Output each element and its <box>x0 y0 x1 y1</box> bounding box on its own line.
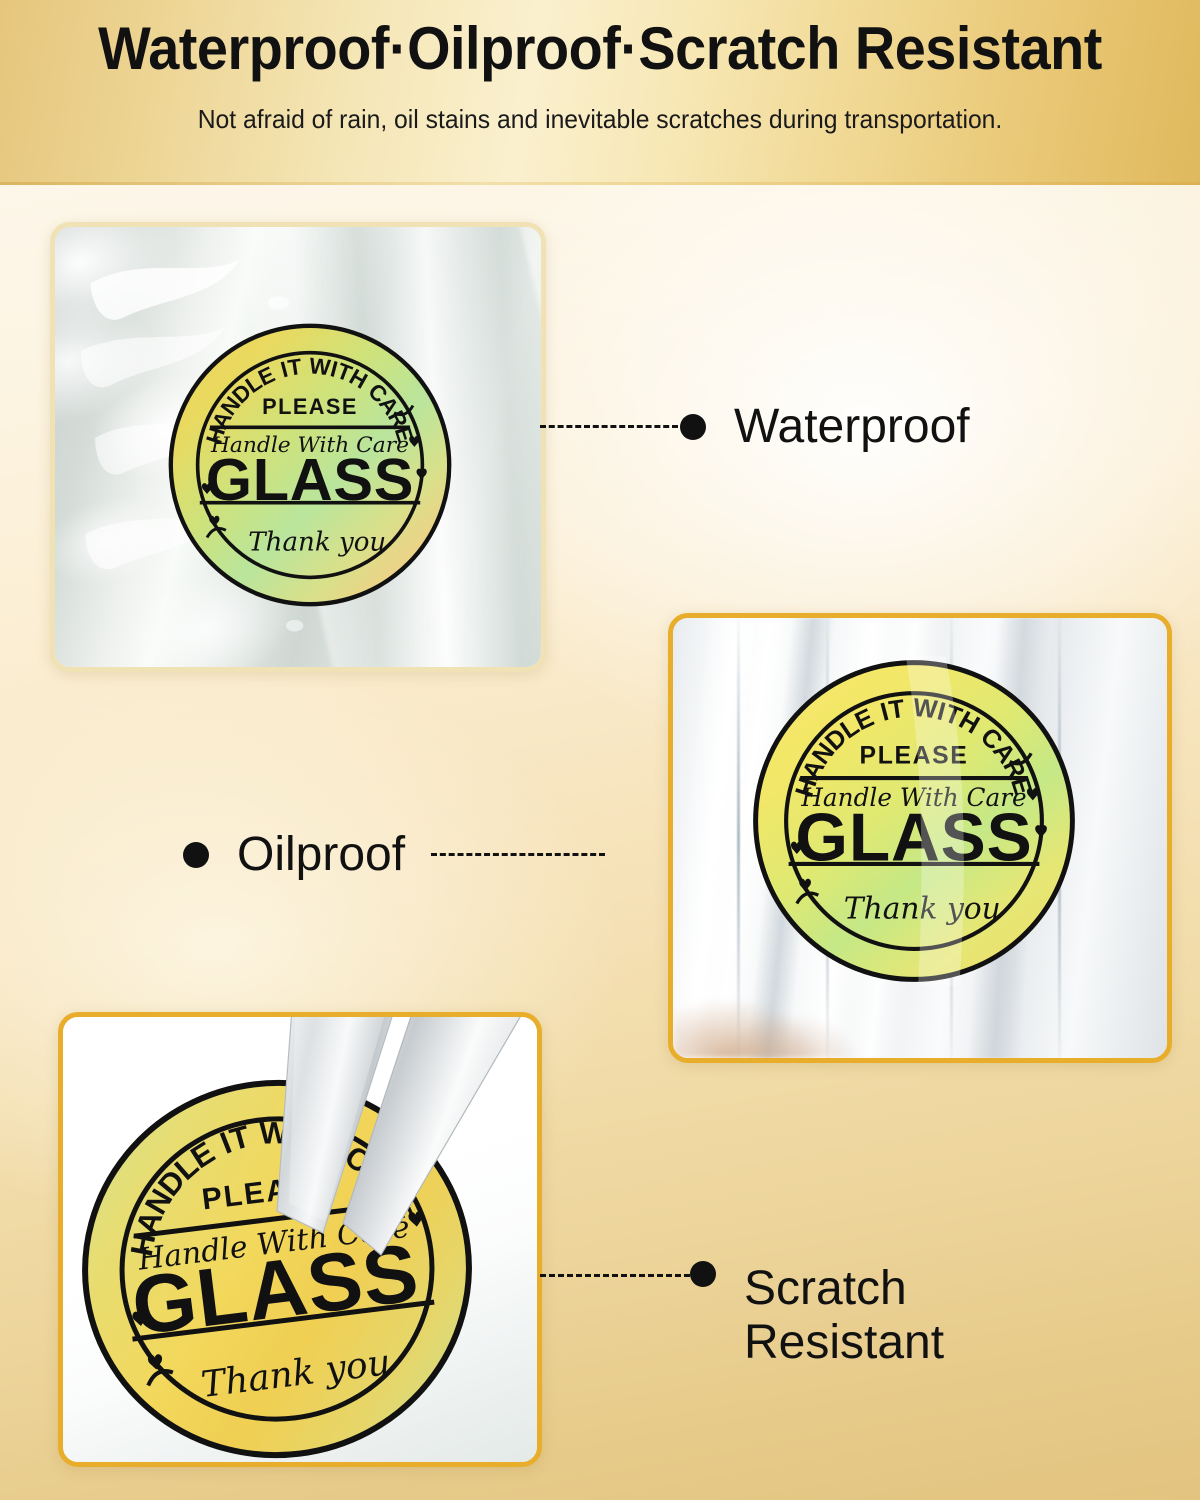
callout-label-scratch-line1: Scratch <box>744 1262 907 1315</box>
header-banner: Waterproof·Oilproof·Scratch Resistant No… <box>0 0 1200 185</box>
photo-waterproof: HANDLE IT WITH CARE PLEASE Handle With C… <box>55 227 541 667</box>
photo-frame-scratch: HANDLE IT WITH CARE PLEASE Handle With C… <box>58 1012 542 1467</box>
glass-sticker: HANDLE IT WITH CARE PLEASE Handle With C… <box>165 320 455 610</box>
glass-sticker: HANDLE IT WITH CARE PLEASE Handle With C… <box>749 656 1079 986</box>
callout-label-scratch-line2: Resistant <box>744 1316 944 1369</box>
callout-bullet-dot <box>183 842 209 868</box>
callout-waterproof: Waterproof <box>540 400 970 454</box>
svg-text:GLASS: GLASS <box>206 446 414 513</box>
svg-text:Thank you: Thank you <box>248 528 386 558</box>
callout-label-oilproof: Oilproof <box>237 828 405 882</box>
callout-bullet-dot <box>690 1261 716 1287</box>
callout-scratch: Scratch Resistant <box>540 1262 944 1370</box>
callout-label-waterproof: Waterproof <box>734 400 970 454</box>
svg-text:PLEASE: PLEASE <box>262 394 358 419</box>
svg-text:GLASS: GLASS <box>795 801 1032 876</box>
callout-connector-line <box>540 1274 690 1277</box>
callout-bullet-dot <box>680 414 706 440</box>
callout-label-scratch: Scratch Resistant <box>744 1262 944 1370</box>
scissor-blades-icon <box>203 1017 537 1415</box>
photo-frame-waterproof: HANDLE IT WITH CARE PLEASE Handle With C… <box>50 222 546 672</box>
bottle-edge <box>737 618 740 1058</box>
callout-connector-line <box>540 425 678 428</box>
callout-oilproof: Oilproof <box>183 828 605 882</box>
photo-frame-oilproof: HANDLE IT WITH CARE PLEASE Handle With C… <box>668 613 1172 1063</box>
page-title: Waterproof·Oilproof·Scratch Resistant <box>42 14 1158 83</box>
photo-scratch: HANDLE IT WITH CARE PLEASE Handle With C… <box>63 1017 537 1462</box>
photo-oilproof: HANDLE IT WITH CARE PLEASE Handle With C… <box>673 618 1167 1058</box>
page-subtitle: Not afraid of rain, oil stains and inevi… <box>30 104 1170 135</box>
callout-connector-line <box>431 853 605 856</box>
